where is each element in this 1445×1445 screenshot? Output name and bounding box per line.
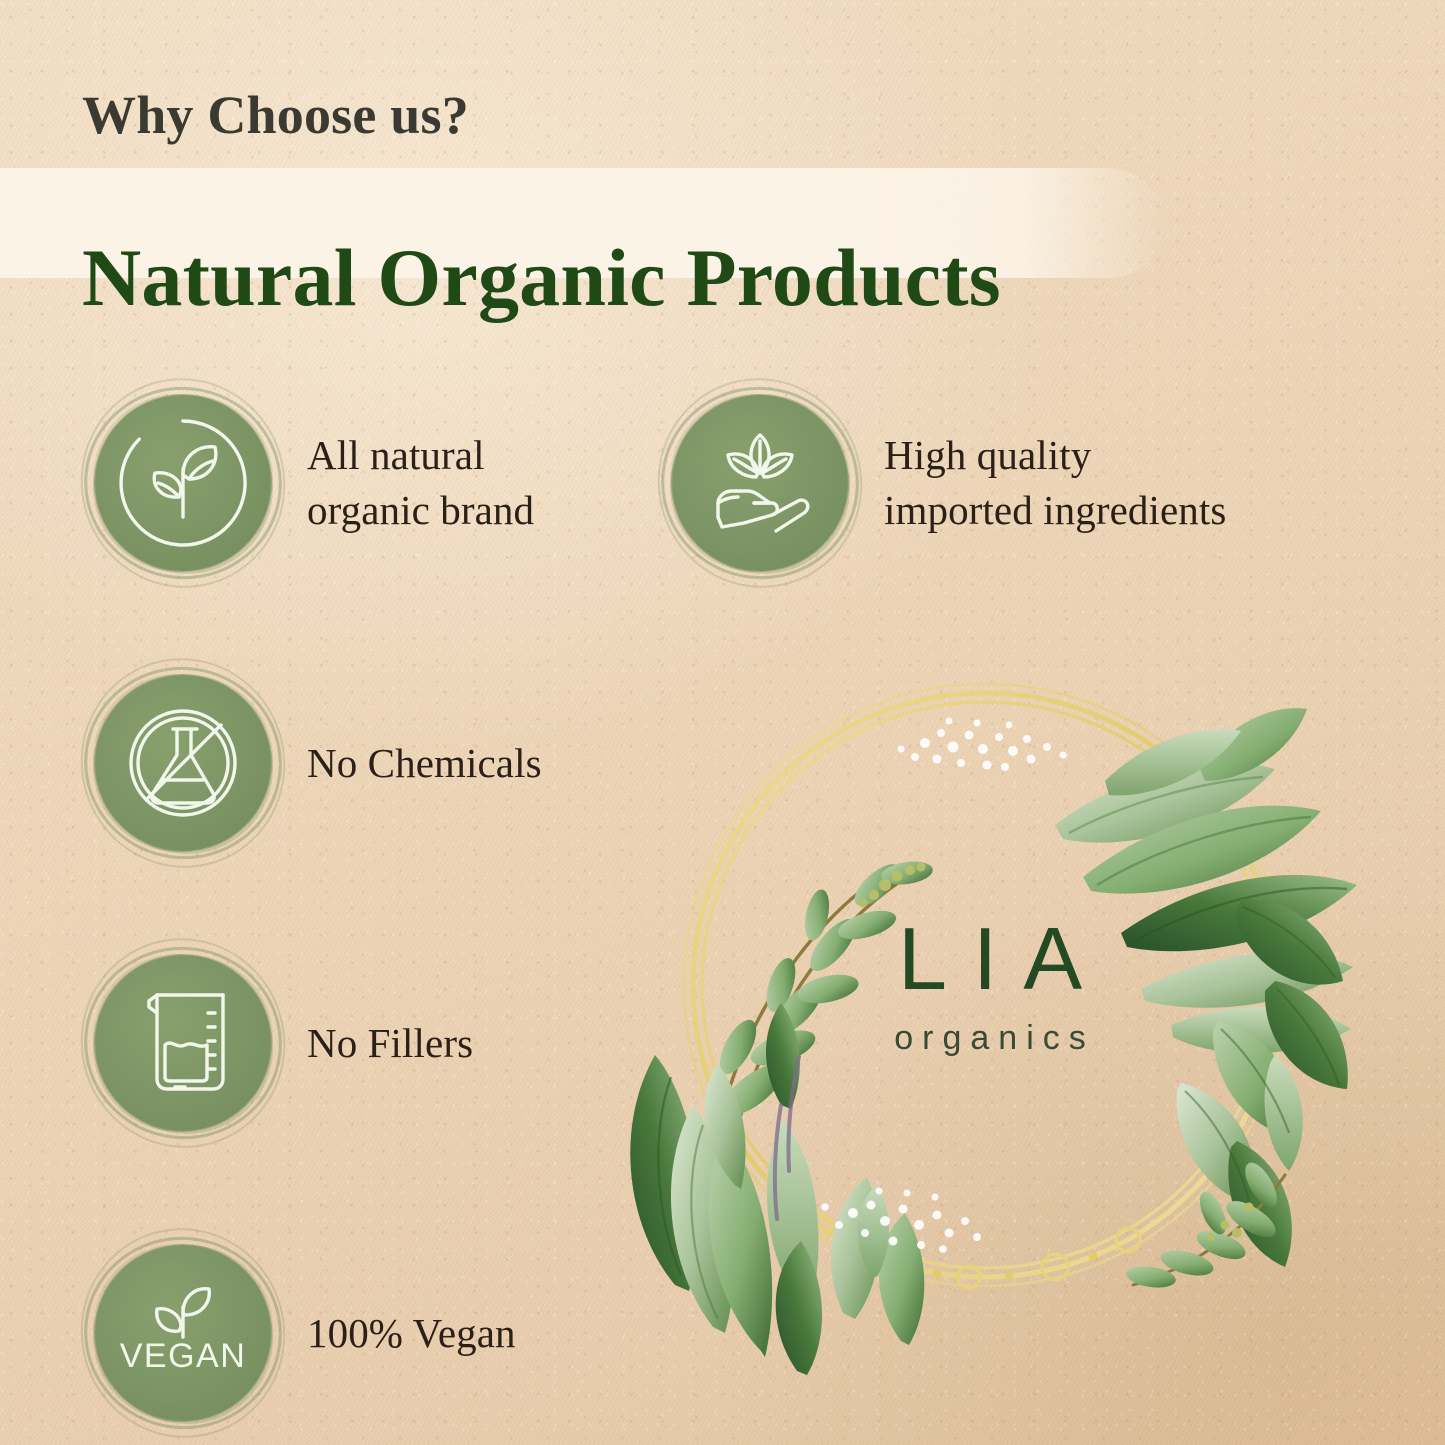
- feature-label-line: No Chemicals: [307, 736, 542, 791]
- feature-label-line: 100% Vegan: [307, 1306, 516, 1361]
- feature-item-all-natural: All natural organic brand: [95, 395, 534, 571]
- feature-label: No Fillers: [307, 1016, 473, 1071]
- eyebrow-text: Why Choose us?: [82, 88, 469, 142]
- feature-badge: [95, 395, 271, 571]
- sprout-in-circle-icon: [95, 395, 271, 571]
- poster-canvas: Why Choose us? Natural Organic Products …: [0, 0, 1445, 1445]
- babys-breath-top: [898, 718, 1067, 772]
- feature-label: All natural organic brand: [307, 428, 534, 537]
- feature-label-line: No Fillers: [307, 1016, 473, 1071]
- feature-badge: [672, 395, 848, 571]
- beaker-icon: [95, 955, 271, 1131]
- no-chemicals-flask-icon: [95, 675, 271, 851]
- feature-item-high-quality: High quality imported ingredients: [672, 395, 1226, 571]
- feature-item-no-fillers: No Fillers: [95, 955, 473, 1131]
- brand-tagline: organics: [855, 1019, 1125, 1058]
- feature-badge: [95, 675, 271, 851]
- feature-label-line: High quality: [884, 428, 1226, 483]
- feature-label: 100% Vegan: [307, 1306, 516, 1361]
- feature-label-line: organic brand: [307, 483, 534, 538]
- brand-name: LIA: [855, 915, 1125, 1003]
- vegan-badge-text: VEGAN: [120, 1337, 247, 1375]
- feature-item-no-chemicals: No Chemicals: [95, 675, 542, 851]
- feature-item-vegan: VEGAN 100% Vegan: [95, 1245, 516, 1421]
- feature-label: High quality imported ingredients: [884, 428, 1226, 537]
- page-title: Natural Organic Products: [82, 235, 1001, 321]
- brand-logo: LIA organics: [855, 915, 1125, 1058]
- feature-label: No Chemicals: [307, 736, 542, 791]
- feature-badge: VEGAN: [95, 1245, 271, 1421]
- feature-badge: [95, 955, 271, 1131]
- hand-holding-leaves-icon: [672, 395, 848, 571]
- vegan-sprout-badge-icon: VEGAN: [95, 1245, 271, 1421]
- feature-label-line: imported ingredients: [884, 483, 1226, 538]
- feature-label-line: All natural: [307, 428, 534, 483]
